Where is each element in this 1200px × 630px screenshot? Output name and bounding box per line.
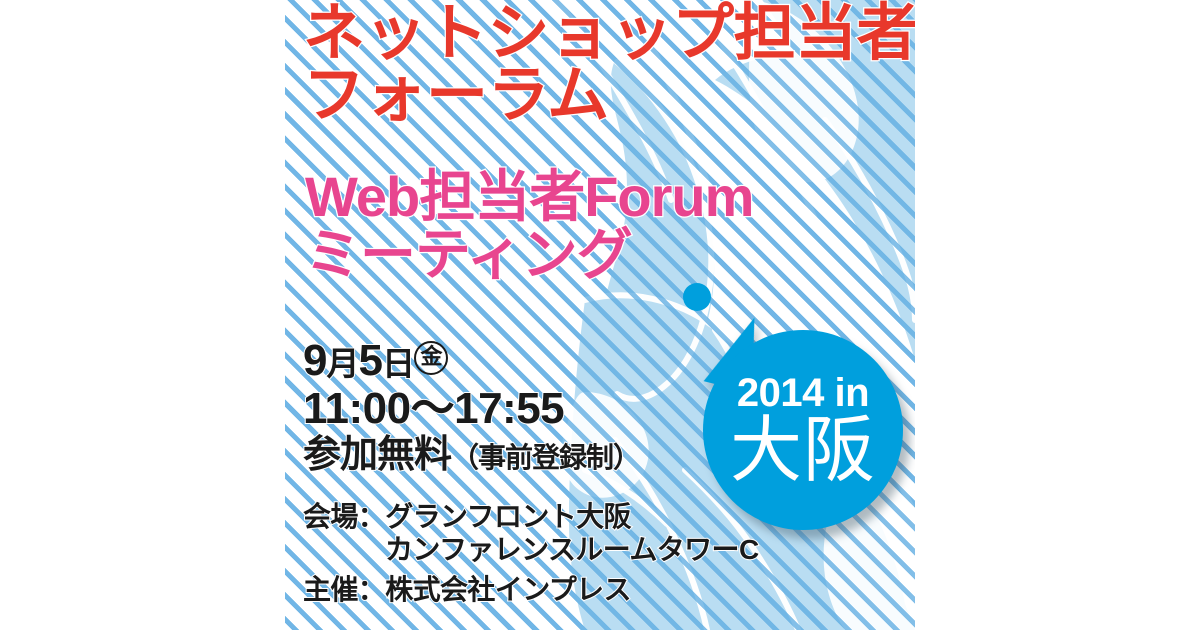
location-badge: 2014 in 大阪 — [703, 312, 903, 512]
map-pin-dot-icon — [683, 283, 711, 311]
event-subtitle-line-2: ミーティング — [305, 226, 905, 284]
event-fee-note: （事前登録制） — [451, 442, 640, 473]
event-fee-label: 参加無料 — [303, 434, 451, 476]
event-title: ネットショップ担当者 フォーラム — [303, 4, 903, 126]
poster-root: ネットショップ担当者 フォーラム Web担当者Forum ミーティング 9月5日… — [0, 0, 1200, 630]
event-date-month: 9 — [303, 336, 326, 385]
event-title-line-1: ネットショップ担当者 — [303, 4, 903, 64]
location-badge-circle: 2014 in 大阪 — [703, 330, 903, 530]
event-day-of-week-badge: 金 — [414, 341, 448, 375]
location-badge-year: 2014 in — [737, 373, 869, 413]
event-date-day: 5 — [358, 336, 381, 385]
venue-room-line: カンファレンスルームタワーC — [303, 533, 903, 566]
banner-content: ネットショップ担当者 フォーラム Web担当者Forum ミーティング 9月5日… — [285, 0, 915, 630]
event-subtitle: Web担当者Forum ミーティング — [305, 168, 905, 283]
event-host-line: 主催：株式会社インプレス — [303, 573, 903, 606]
event-title-line-2: フォーラム — [303, 66, 903, 126]
event-date-day-unit: 日 — [382, 345, 414, 382]
event-banner: ネットショップ担当者 フォーラム Web担当者Forum ミーティング 9月5日… — [285, 0, 915, 630]
event-subtitle-line-1: Web担当者Forum — [305, 168, 905, 226]
location-badge-city: 大阪 — [730, 415, 876, 487]
event-date-month-unit: 月 — [326, 345, 358, 382]
